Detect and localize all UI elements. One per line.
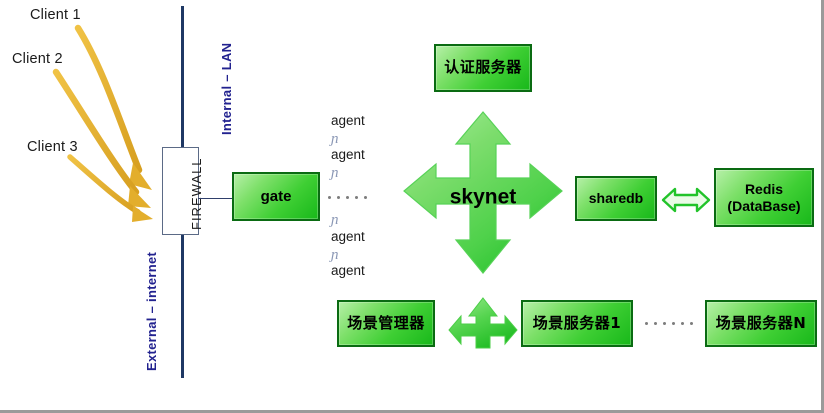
svg-text:skynet: skynet — [450, 186, 517, 209]
node-auth-server[interactable]: 认证服务器 — [434, 44, 532, 92]
node-gate-label: gate — [261, 188, 292, 205]
firewall-gate-connector — [198, 198, 234, 199]
node-auth-server-label: 认证服务器 — [444, 59, 522, 76]
node-redis[interactable]: Redis (DataBase) — [714, 168, 814, 227]
network-divider-lower — [181, 233, 184, 378]
node-redis-label-line2: (DataBase) — [727, 198, 800, 214]
agent-label-4: agent — [331, 263, 365, 278]
node-sharedb-label: sharedb — [589, 190, 643, 206]
agent-squiggle-icon-2: ɲ — [331, 165, 339, 182]
node-gate[interactable]: gate — [232, 172, 320, 221]
sharedb-redis-arrow — [661, 185, 711, 215]
diagram-canvas: Client 1 Client 2 Client 3 — [0, 0, 824, 413]
node-redis-label-line1: Redis — [745, 181, 783, 197]
firewall-label: FIREWALL — [189, 157, 204, 230]
agent-label-1: agent — [331, 113, 365, 128]
agent-squiggle-icon-4: ɲ — [331, 247, 339, 264]
agent-label-2: agent — [331, 147, 365, 162]
node-scene-server-1[interactable]: 场景服务器1 — [521, 300, 633, 347]
agent-label-3: agent — [331, 229, 365, 244]
zone-label-internal: Internal – LAN — [219, 43, 234, 135]
node-skynet[interactable]: skynet — [392, 110, 574, 288]
node-scene-server-n[interactable]: 场景服务器N — [705, 300, 817, 347]
zone-label-external: External – internet — [144, 252, 159, 371]
agent-squiggle-icon-1: ɲ — [331, 131, 339, 148]
scene-server-ellipsis — [645, 322, 693, 325]
node-scene-server-n-label: 场景服务器N — [716, 315, 807, 332]
firewall-box: FIREWALL — [162, 147, 199, 235]
node-scene-manager[interactable]: 场景管理器 — [337, 300, 435, 347]
node-scene-manager-label: 场景管理器 — [347, 315, 425, 332]
scene-tri-arrow — [447, 296, 519, 352]
network-divider-upper — [181, 6, 184, 151]
node-sharedb[interactable]: sharedb — [575, 176, 657, 221]
agent-ellipsis — [328, 196, 367, 199]
agent-squiggle-icon-3: ɲ — [331, 212, 339, 229]
node-scene-server-1-label: 场景服务器1 — [533, 315, 621, 332]
